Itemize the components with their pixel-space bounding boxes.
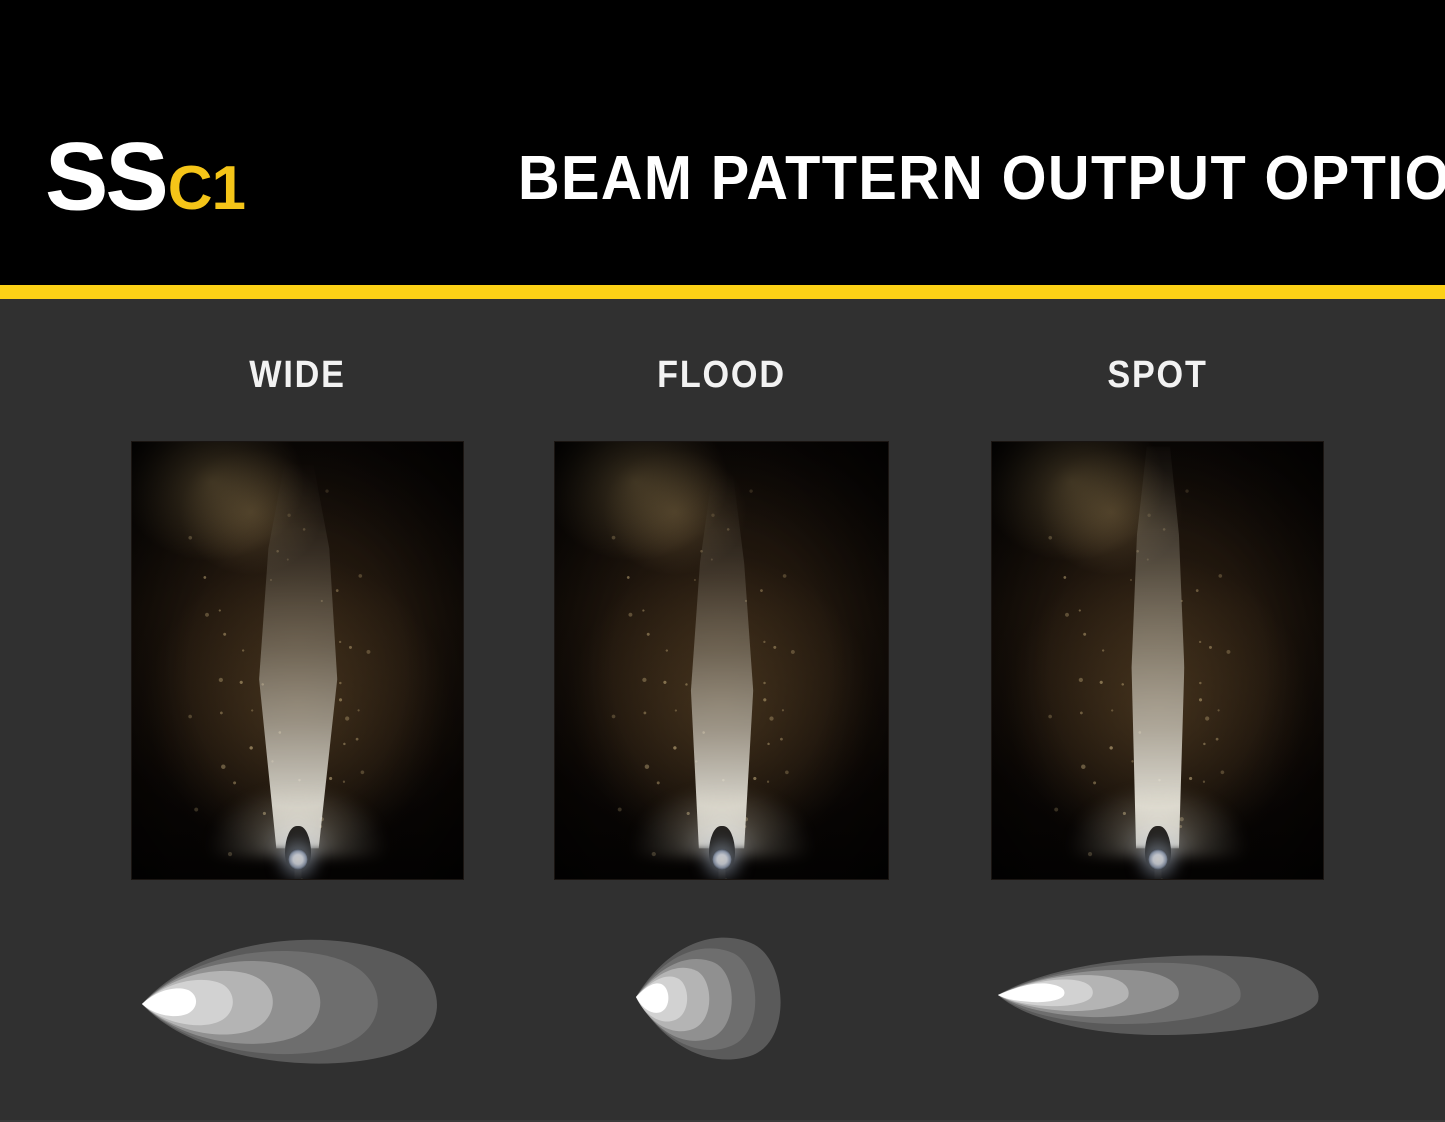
beam-pattern-diagram-flood	[555, 919, 888, 1069]
column-flood: FLOOD	[555, 299, 888, 1122]
flood-pattern-rings	[636, 938, 781, 1060]
column-wide: WIDE	[132, 299, 463, 1122]
column-label-spot: SPOT	[1009, 356, 1307, 394]
product-logo: SS C1	[45, 131, 245, 215]
photo-vignette-flood	[555, 442, 888, 879]
beam-photo-wide	[132, 442, 463, 879]
column-label-wide: WIDE	[149, 356, 447, 394]
beam-pattern-diagram-wide	[132, 919, 463, 1069]
header-bar: SS C1 BEAM PATTERN OUTPUT OPTIONS	[0, 0, 1445, 285]
beam-photo-spot	[992, 442, 1323, 879]
logo-accent-text: C1	[168, 158, 245, 220]
page-title: BEAM PATTERN OUTPUT OPTIONS	[518, 148, 1355, 210]
photo-vignette-spot	[992, 442, 1323, 879]
column-label-flood: FLOOD	[572, 356, 872, 394]
logo-primary-text: SS	[45, 129, 166, 226]
beam-pattern-infographic: SS C1 BEAM PATTERN OUTPUT OPTIONS WIDE	[0, 0, 1445, 1122]
spot-pattern-rings	[998, 956, 1319, 1035]
photo-vignette-wide	[132, 442, 463, 879]
comparison-stage: WIDE	[0, 299, 1445, 1122]
beam-pattern-diagram-spot	[992, 919, 1323, 1069]
column-spot: SPOT	[992, 299, 1323, 1122]
beam-photo-flood	[555, 442, 888, 879]
accent-divider	[0, 285, 1445, 299]
wide-pattern-rings	[142, 940, 437, 1064]
